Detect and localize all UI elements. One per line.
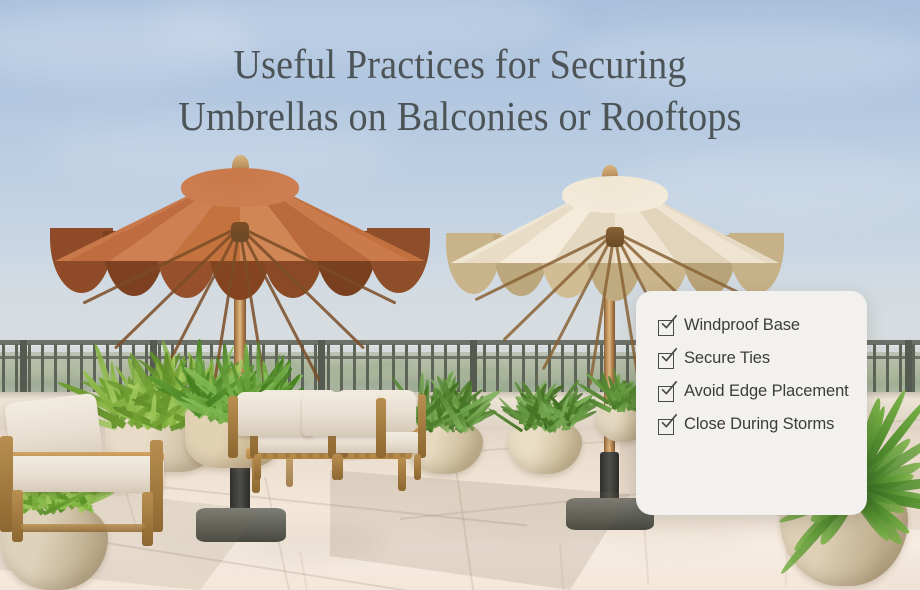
checkbox-checked-icon[interactable]: [658, 351, 675, 368]
railing-baluster: [483, 344, 486, 398]
chair-leg: [254, 454, 261, 480]
umbrella-hub: [606, 227, 624, 247]
sofa-arm: [228, 396, 238, 458]
umbrella-canopy-cap: [562, 176, 668, 213]
chair-leg: [142, 492, 153, 546]
railing-post: [20, 340, 27, 398]
checklist-item-label: Close During Storms: [684, 414, 834, 434]
coffee-table-leg: [286, 457, 293, 487]
railing-baluster: [54, 344, 57, 398]
checkbox-checked-icon[interactable]: [658, 318, 675, 335]
sofa-back-cushion: [302, 392, 380, 436]
page-title-line-2: Umbrellas on Balconies or Rooftops: [32, 90, 888, 142]
checklist-item[interactable]: Avoid Edge Placement: [658, 381, 851, 401]
chair-leg: [414, 454, 421, 480]
umbrella-canopy-cap: [181, 168, 299, 207]
checklist-item[interactable]: Close During Storms: [658, 414, 851, 434]
chair-seat-cushion: [8, 456, 164, 492]
chair-leg: [12, 490, 23, 542]
railing-baluster: [15, 344, 18, 398]
railing-baluster: [561, 344, 564, 398]
checklist-item[interactable]: Secure Ties: [658, 348, 851, 368]
rooftop-terrace-scene: Useful Practices for Securing Umbrellas …: [0, 0, 920, 590]
umbrella-canopy: [55, 170, 425, 300]
checklist-item[interactable]: Windproof Base: [658, 315, 851, 335]
checkbox-checked-icon[interactable]: [658, 417, 675, 434]
railing-baluster: [912, 344, 915, 398]
ground-shadow: [600, 520, 750, 554]
railing-post: [905, 340, 912, 398]
umbrella-canopy: [450, 178, 780, 300]
railing-baluster: [2, 344, 5, 398]
checklist-card: Windproof BaseSecure TiesAvoid Edge Plac…: [636, 291, 867, 515]
chair-stretcher: [20, 524, 146, 532]
railing-baluster: [41, 344, 44, 398]
railing-baluster: [509, 344, 512, 398]
railing-baluster: [899, 344, 902, 398]
umbrella-hub: [231, 222, 249, 242]
page-title-line-1: Useful Practices for Securing: [32, 38, 888, 90]
checklist-item-label: Windproof Base: [684, 315, 800, 335]
railing-baluster: [886, 344, 889, 398]
checklist-item-label: Avoid Edge Placement: [684, 381, 849, 401]
sofa-arm: [376, 398, 386, 458]
checklist-item-label: Secure Ties: [684, 348, 770, 368]
checklist: Windproof BaseSecure TiesAvoid Edge Plac…: [658, 315, 851, 434]
railing-baluster: [873, 344, 876, 398]
checkbox-checked-icon[interactable]: [658, 384, 675, 401]
coffee-table-leg: [398, 457, 406, 491]
chair-arm: [418, 394, 426, 458]
page-title: Useful Practices for Securing Umbrellas …: [32, 38, 888, 142]
railing-baluster: [28, 344, 31, 398]
chair-leg: [332, 454, 339, 480]
